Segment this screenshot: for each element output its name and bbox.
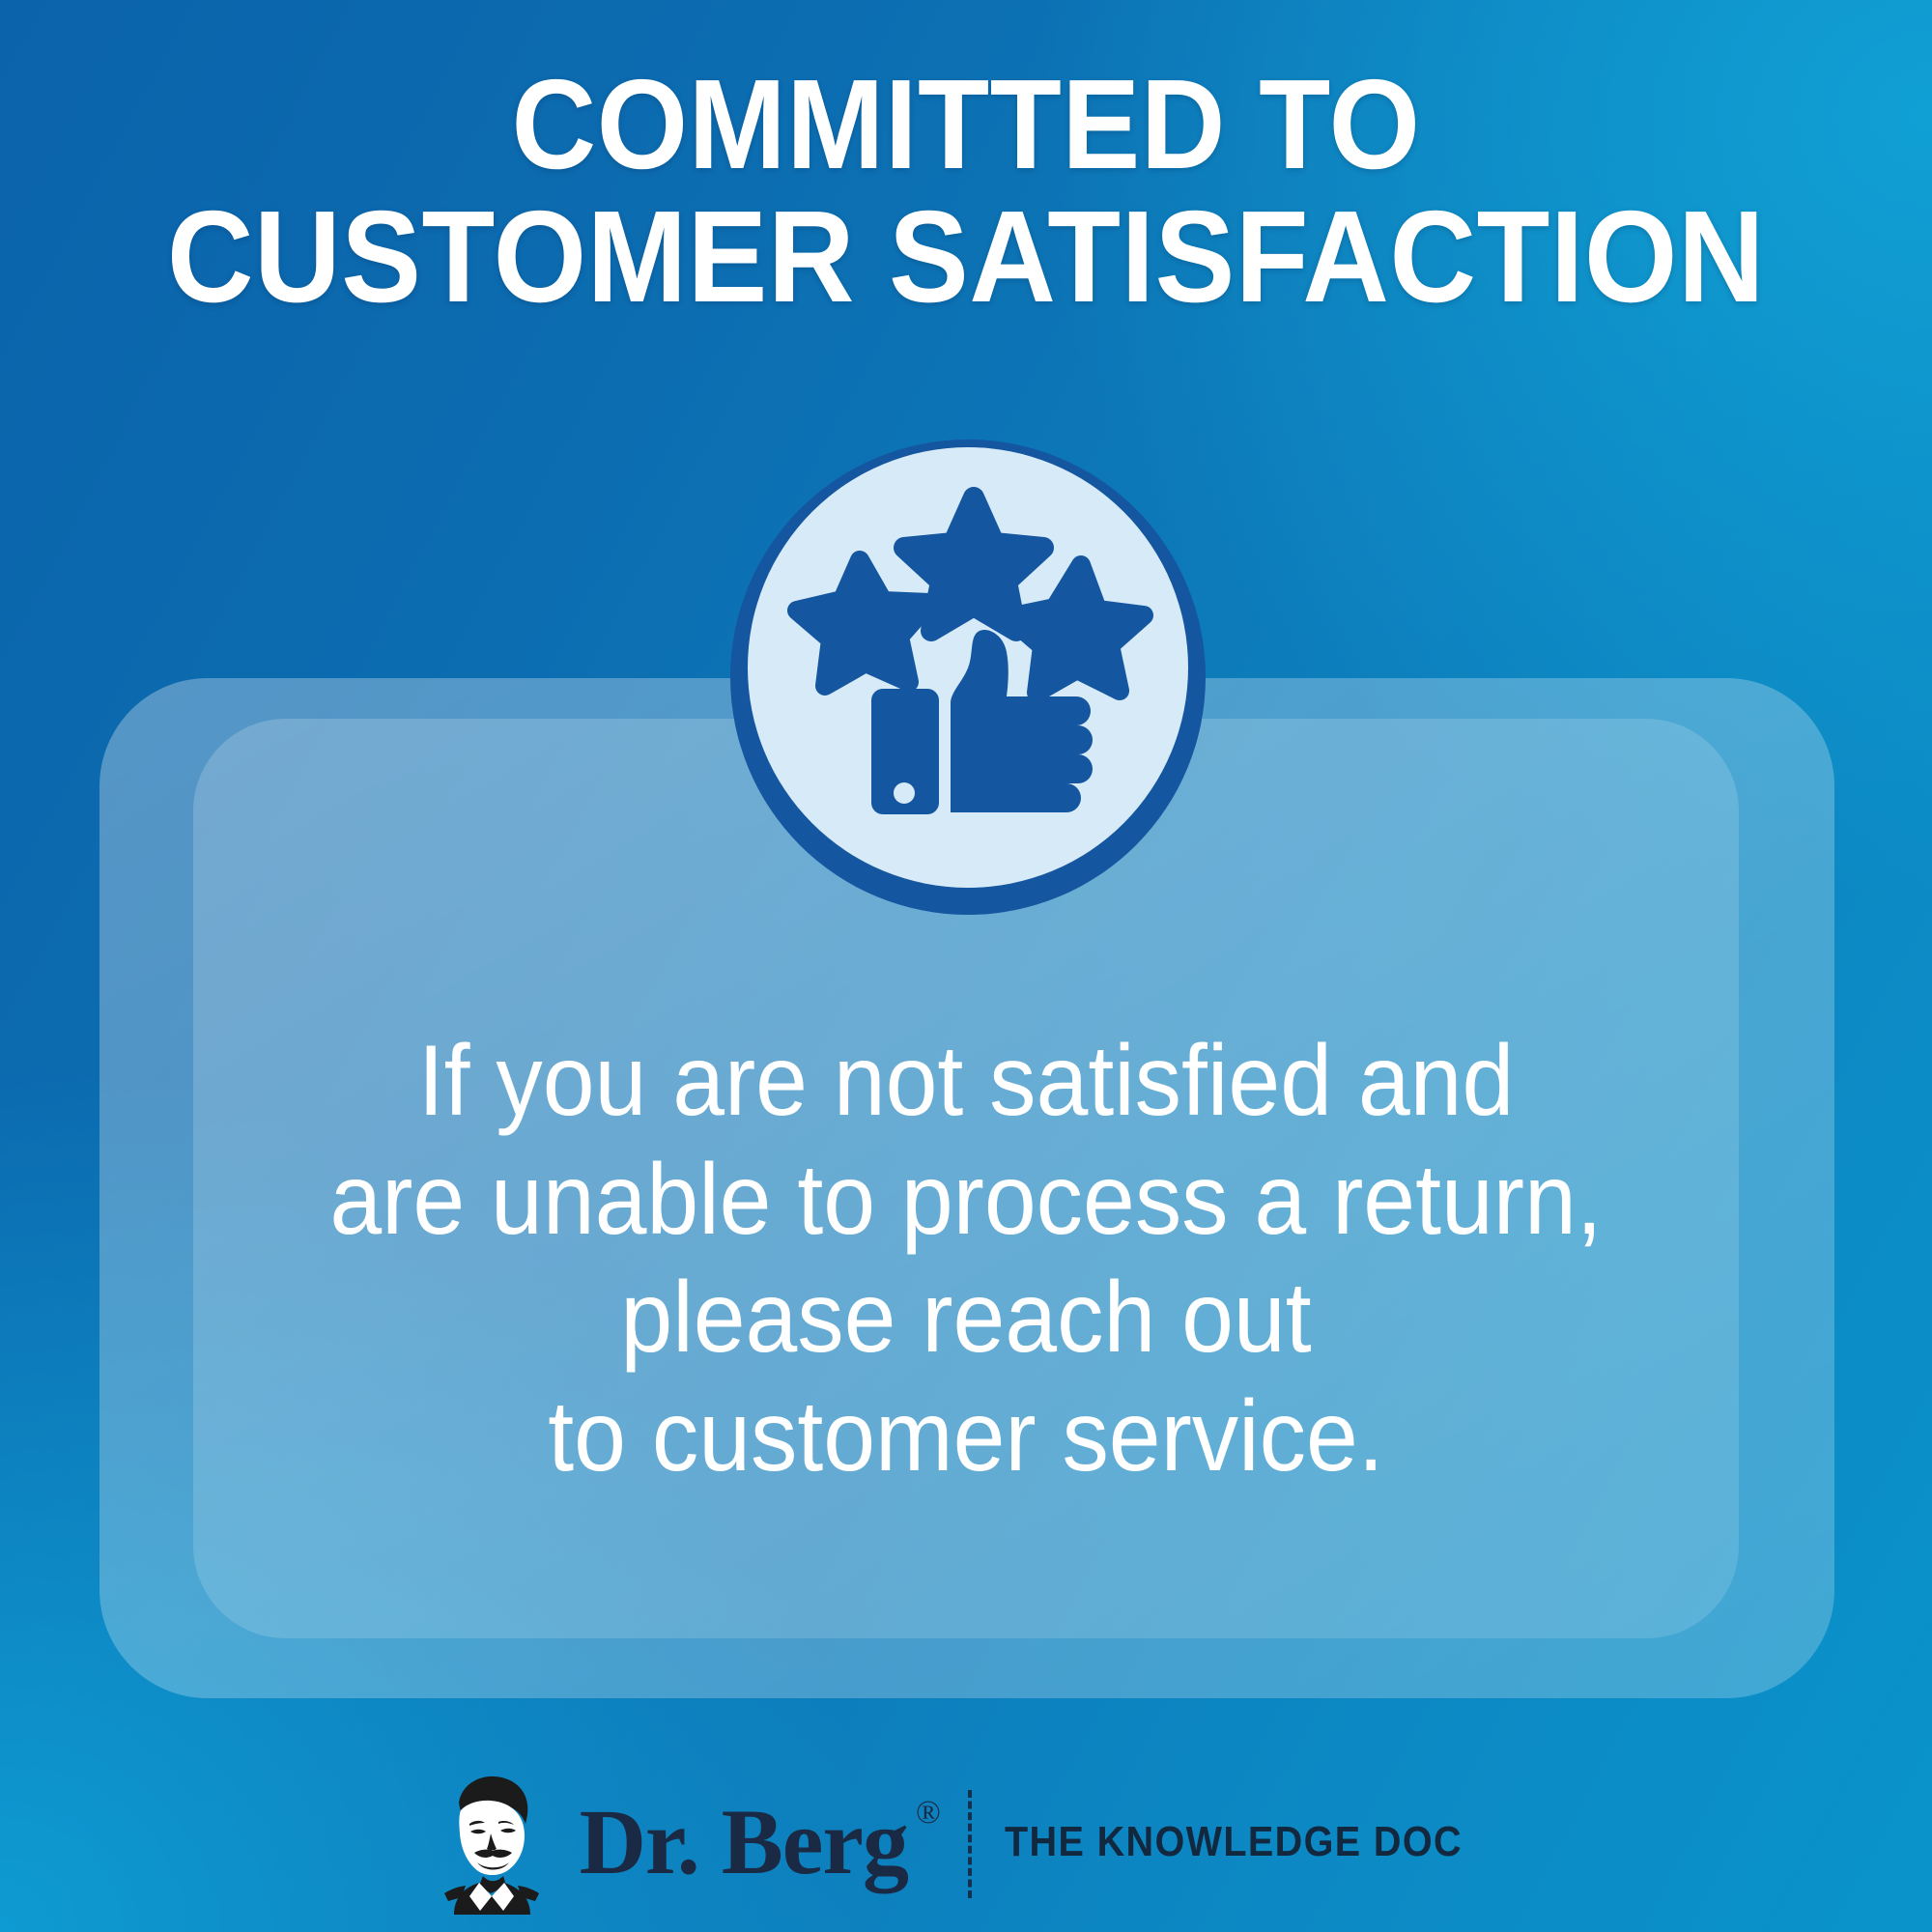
brand-lockup: Dr. Berg ® THE KNOWLEDGE DOC xyxy=(0,1770,1932,1915)
satisfaction-badge xyxy=(730,440,1206,915)
page-title: COMMITTED TO CUSTOMER SATISFACTION xyxy=(77,60,1855,323)
registered-trademark-icon: ® xyxy=(916,1797,941,1830)
message-line-3: please reach out xyxy=(203,1259,1730,1378)
three-stars-thumbs-up-icon xyxy=(748,447,1188,888)
page-title-line-1: COMMITTED TO xyxy=(77,60,1855,190)
page-title-line-2: CUSTOMER SATISFACTION xyxy=(77,190,1855,324)
brand-wordmark: Dr. Berg xyxy=(580,1796,908,1889)
promo-card-canvas: COMMITTED TO CUSTOMER SATISFACTION xyxy=(0,0,1932,1932)
message-line-2: are unable to process a return, xyxy=(203,1141,1730,1260)
brand-divider xyxy=(968,1790,972,1898)
brand-tagline: THE KNOWLEDGE DOC xyxy=(1005,1818,1463,1866)
message-text: If you are not satisfied and are unable … xyxy=(203,1022,1730,1496)
message-line-4: to customer service. xyxy=(203,1378,1730,1496)
message-line-1: If you are not satisfied and xyxy=(203,1022,1730,1141)
dr-berg-portrait-icon xyxy=(419,1770,564,1915)
